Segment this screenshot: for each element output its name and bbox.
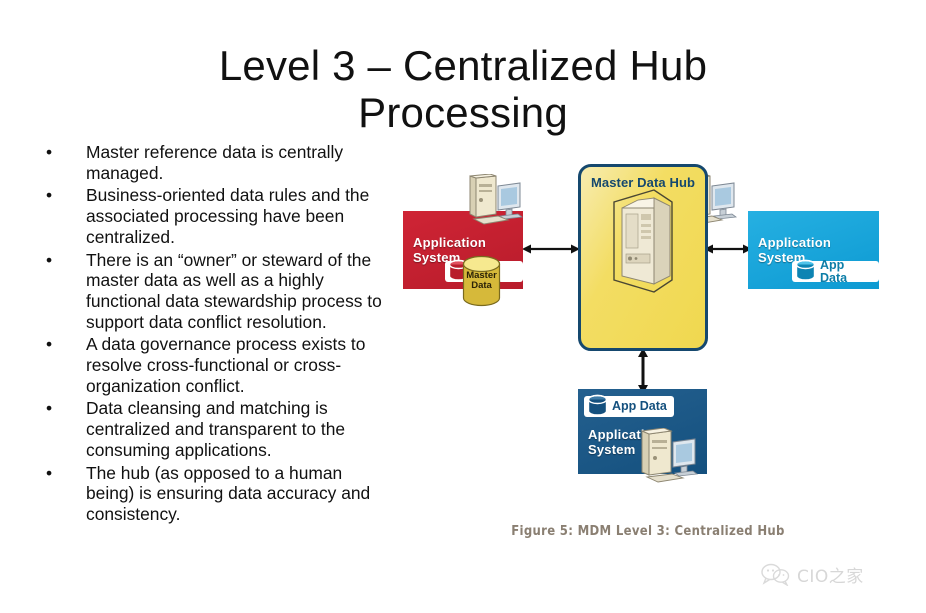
server-tower-icon — [592, 184, 682, 309]
list-item: • The hub (as opposed to a human being) … — [36, 463, 386, 525]
list-item: • Business-oriented data rules and the a… — [36, 185, 386, 247]
list-item-text: There is an “owner” or steward of the ma… — [86, 250, 382, 332]
list-item: • Data cleansing and matching is central… — [36, 398, 386, 460]
bullet-marker-icon: • — [46, 250, 52, 271]
list-item: • A data governance process exists to re… — [36, 334, 386, 396]
database-cylinder-icon — [586, 391, 609, 419]
figure-caption: Figure 5: MDM Level 3: Centralized Hub — [392, 524, 904, 539]
bullet-marker-icon: • — [46, 142, 52, 163]
app-system-right-box[interactable]: Application System App Data — [748, 211, 879, 289]
list-item: • Master reference data is centrally man… — [36, 142, 386, 183]
watermark: CIO之家 — [760, 559, 912, 589]
bullet-marker-icon: • — [46, 185, 52, 206]
watermark-text: CIO之家 — [797, 562, 864, 587]
list-item-text: The hub (as opposed to a human being) is… — [86, 463, 370, 524]
bullet-list: • Master reference data is centrally man… — [36, 142, 386, 527]
connector-left-to-hub-arrow — [522, 240, 580, 258]
list-item-text: Data cleansing and matching is centraliz… — [86, 398, 345, 459]
list-item: • There is an “owner” or steward of the … — [36, 250, 386, 333]
database-cylinder-icon — [794, 256, 817, 284]
app-data-pill-right: App Data — [792, 261, 879, 282]
bullet-marker-icon: • — [46, 463, 52, 484]
connector-hub-to-bottom-arrow — [634, 348, 652, 394]
list-item-text: Master reference data is centrally manag… — [86, 142, 343, 183]
list-item-text: A data governance process exists to reso… — [86, 334, 365, 395]
bullet-marker-icon: • — [46, 398, 52, 419]
connector-hub-to-right-arrow — [704, 240, 752, 258]
wechat-bubbles-icon — [760, 562, 790, 586]
mdm-architecture-diagram: Application System App Data — [392, 156, 904, 548]
bullet-marker-icon: • — [46, 334, 52, 355]
app-data-label-bottom: App Data — [612, 400, 667, 413]
app-data-pill-bottom: App Data — [584, 396, 674, 417]
list-item-text: Business-oriented data rules and the ass… — [86, 185, 369, 246]
computer-workstation-icon — [635, 428, 703, 490]
master-data-cylinder-label: Master Data — [458, 271, 505, 292]
page-title: Level 3 – Centralized Hub Processing — [150, 42, 776, 136]
app-data-label-right: App Data — [820, 259, 872, 284]
computer-workstation-icon — [464, 174, 528, 232]
